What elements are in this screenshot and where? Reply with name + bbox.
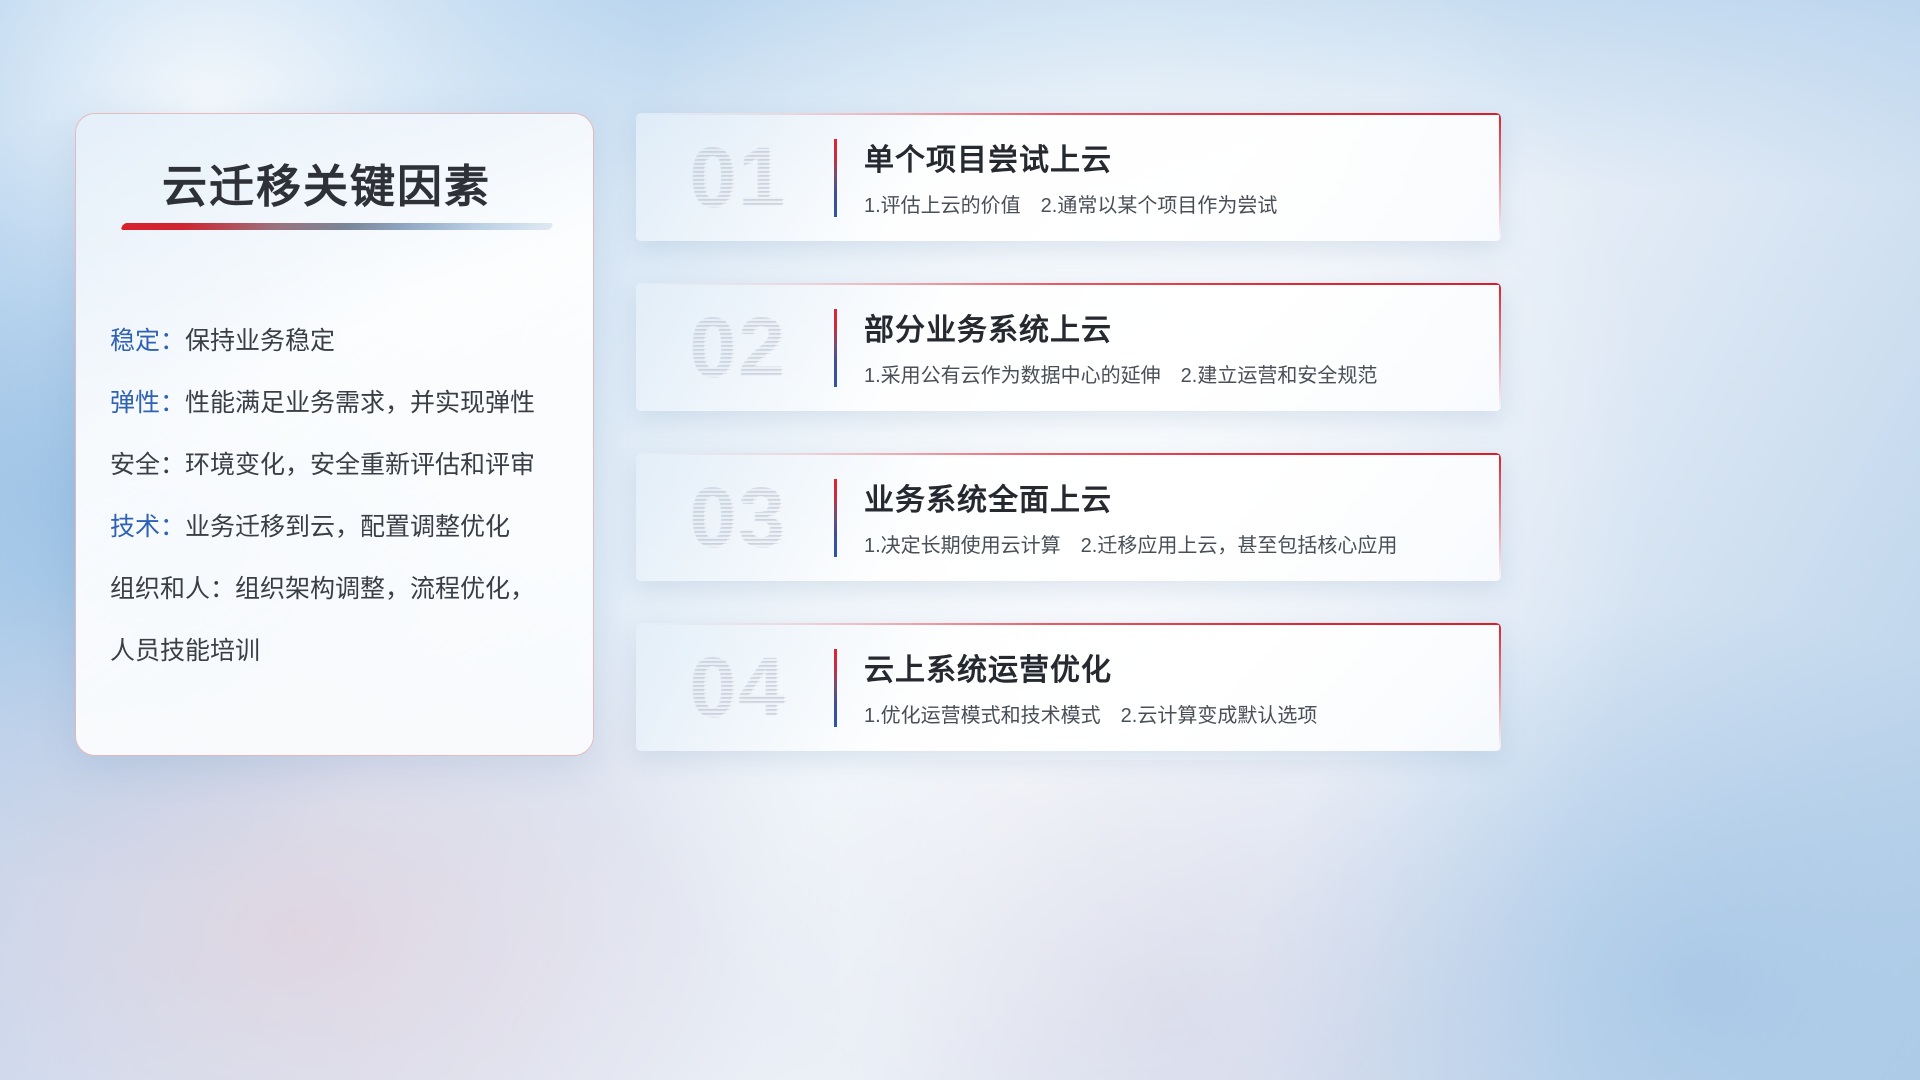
key-factor-text: 性能满足业务需求，并实现弹性 — [185, 389, 535, 417]
key-factor-row: 技术：业务迁移到云，配置调整优化 — [110, 496, 580, 558]
title-underline-accent — [120, 223, 554, 230]
stage-number: 02 — [658, 297, 818, 397]
stage-description: 1.决定长期使用云计算 2.迁移应用上云，甚至包括核心应用 — [864, 529, 1397, 558]
stage-card[interactable]: 0303业务系统全面上云1.决定长期使用云计算 2.迁移应用上云，甚至包括核心应… — [636, 453, 1501, 581]
key-factor-label: 技术： — [110, 513, 185, 541]
stage-card[interactable]: 0404云上系统运营优化1.优化运营模式和技术模式 2.云计算变成默认选项 — [636, 623, 1501, 751]
key-factor-text: 业务迁移到云，配置调整优化 — [185, 513, 510, 541]
key-factors-list: 稳定：保持业务稳定弹性：性能满足业务需求，并实现弹性安全：环境变化，安全重新评估… — [110, 310, 580, 682]
key-factor-label: 稳定： — [110, 327, 185, 355]
stage-number: 03 — [658, 467, 818, 567]
stage-description: 1.优化运营模式和技术模式 2.云计算变成默认选项 — [864, 699, 1317, 728]
key-factor-text: 人员技能培训 — [110, 637, 260, 665]
key-factor-text: 组织架构调整，流程优化， — [235, 575, 535, 603]
stage-divider-bar — [834, 649, 837, 727]
background-glow-bottom-center — [760, 760, 1580, 1080]
stage-card[interactable]: 0101单个项目尝试上云1.评估上云的价值 2.通常以某个项目作为尝试 — [636, 113, 1501, 241]
stage-number: 01 — [658, 127, 818, 227]
key-factor-label: 弹性： — [110, 389, 185, 417]
stage-title: 部分业务系统上云 — [864, 305, 1112, 349]
key-factor-text: 保持业务稳定 — [185, 327, 335, 355]
key-factor-row: 弹性：性能满足业务需求，并实现弹性 — [110, 372, 580, 434]
stage-title: 单个项目尝试上云 — [864, 135, 1112, 179]
key-factor-label: 安全： — [110, 451, 185, 479]
page-title: 云迁移关键因素 — [162, 150, 491, 215]
key-factor-row: 稳定：保持业务稳定 — [110, 310, 580, 372]
key-factor-row: 安全：环境变化，安全重新评估和评审 — [110, 434, 580, 496]
stage-number: 04 — [658, 637, 818, 737]
key-factor-row: 组织和人：组织架构调整，流程优化， — [110, 558, 580, 620]
stage-divider-bar — [834, 139, 837, 217]
key-factor-text: 环境变化，安全重新评估和评审 — [185, 451, 535, 479]
key-factor-row: 人员技能培训 — [110, 620, 580, 682]
stage-description: 1.评估上云的价值 2.通常以某个项目作为尝试 — [864, 189, 1277, 218]
key-factors-panel: 云迁移关键因素 稳定：保持业务稳定弹性：性能满足业务需求，并实现弹性安全：环境变… — [75, 113, 594, 756]
stage-title: 云上系统运营优化 — [864, 645, 1112, 689]
stage-divider-bar — [834, 309, 837, 387]
stage-card-list: 0101单个项目尝试上云1.评估上云的价值 2.通常以某个项目作为尝试0202部… — [636, 113, 1501, 793]
stage-divider-bar — [834, 479, 837, 557]
key-factor-label: 组织和人： — [110, 575, 235, 603]
stage-description: 1.采用公有云作为数据中心的延伸 2.建立运营和安全规范 — [864, 359, 1377, 388]
stage-title: 业务系统全面上云 — [864, 475, 1112, 519]
stage-card[interactable]: 0202部分业务系统上云1.采用公有云作为数据中心的延伸 2.建立运营和安全规范 — [636, 283, 1501, 411]
